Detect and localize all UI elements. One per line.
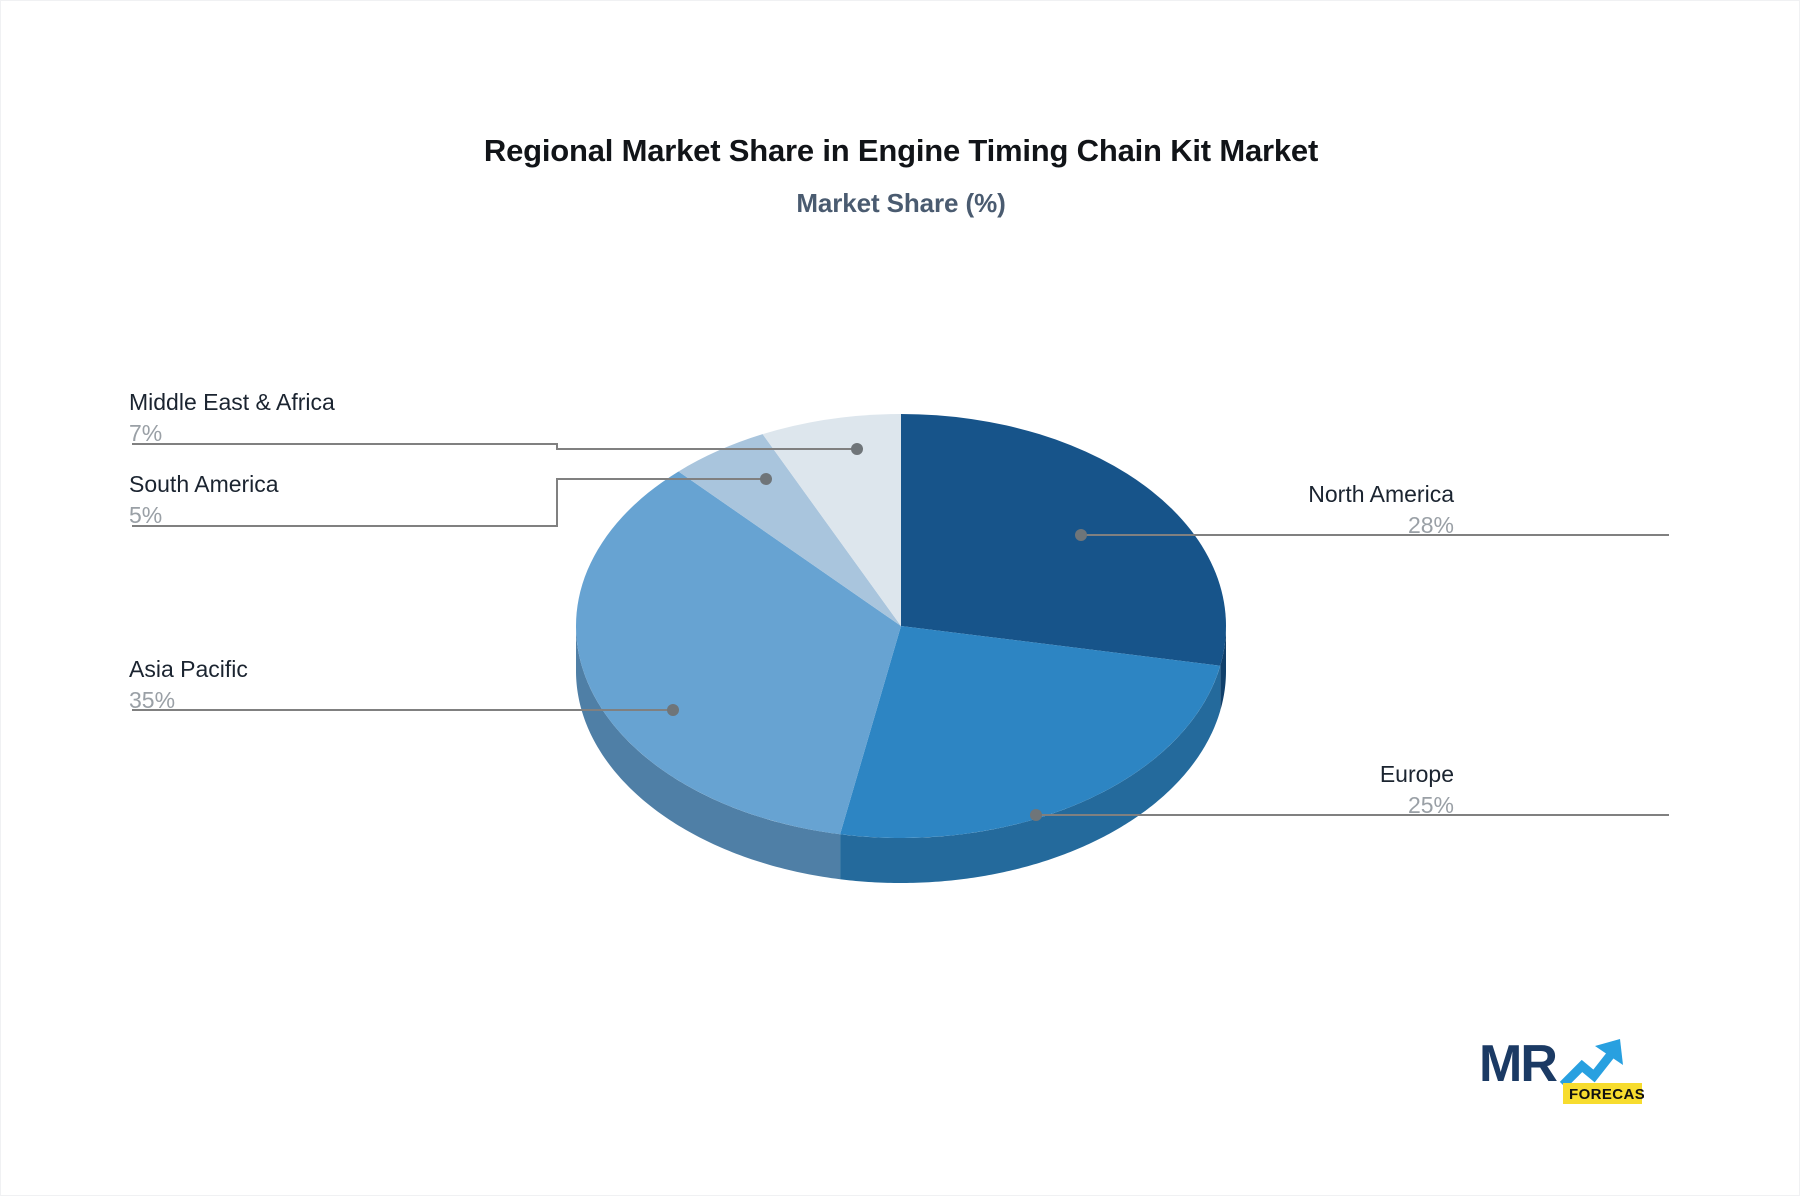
- page-title: Regional Market Share in Engine Timing C…: [1, 133, 1800, 169]
- callout-value-south-america: 5%: [129, 499, 279, 531]
- callout-label-middle-east-africa: Middle East & Africa: [129, 387, 335, 417]
- callout-label-north-america: North America: [1308, 479, 1454, 509]
- pie-top-face: [576, 414, 1226, 838]
- callout-value-middle-east-africa: 7%: [129, 417, 335, 449]
- callout-value-north-america: 28%: [1308, 509, 1454, 541]
- pie-svg: [576, 371, 1226, 951]
- mr-forecast-logo: MR FORECAST: [1479, 1033, 1644, 1109]
- callout-label-asia-pacific: Asia Pacific: [129, 654, 248, 684]
- pie-slice-north-america: [901, 414, 1226, 666]
- logo-badge-text: FORECAST: [1569, 1086, 1644, 1103]
- callout-label-south-america: South America: [129, 469, 279, 499]
- callout-value-europe: 25%: [1380, 789, 1454, 821]
- chart-canvas: Regional Market Share in Engine Timing C…: [0, 0, 1800, 1196]
- callout-value-asia-pacific: 35%: [129, 684, 248, 716]
- logo-svg: MR FORECAST: [1479, 1033, 1644, 1109]
- callout-asia-pacific: Asia Pacific 35%: [129, 654, 248, 716]
- callout-north-america: North America 28%: [1308, 479, 1454, 541]
- callout-middle-east-africa: Middle East & Africa 7%: [129, 387, 335, 449]
- trend-arrow-icon: [1563, 1039, 1623, 1085]
- logo-mark-text: MR: [1479, 1035, 1557, 1093]
- chart-subtitle: Market Share (%): [1, 188, 1800, 219]
- pie-chart: [576, 371, 1226, 951]
- callout-label-europe: Europe: [1380, 759, 1454, 789]
- callout-south-america: South America 5%: [129, 469, 279, 531]
- callout-europe: Europe 25%: [1380, 759, 1454, 821]
